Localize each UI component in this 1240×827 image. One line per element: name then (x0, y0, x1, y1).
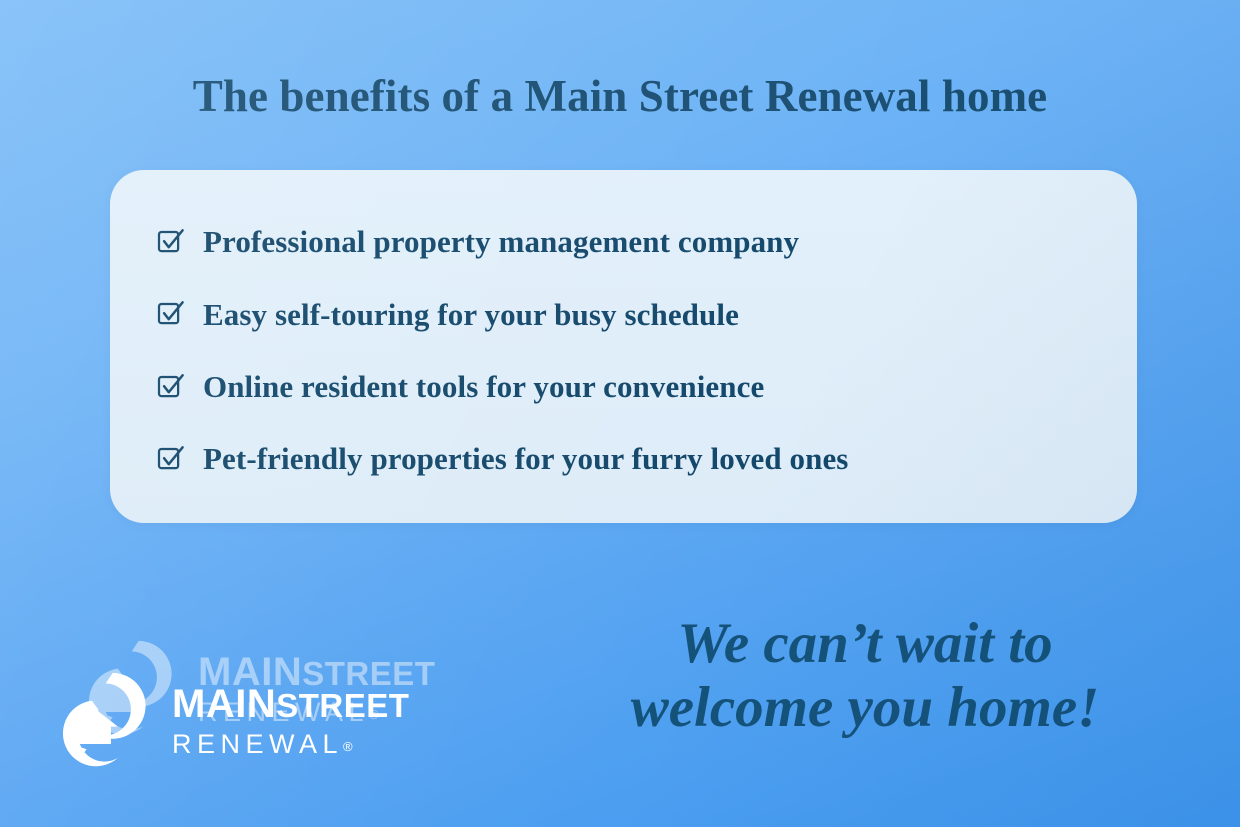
checkbox-checked-icon (156, 371, 186, 401)
checkbox-checked-icon (156, 226, 186, 256)
checkbox-checked-icon (156, 443, 186, 473)
brand-logo: MAINSTREET RENEWAL® MAINSTREET R (52, 634, 482, 779)
benefit-label: Easy self-touring for your busy schedule (203, 297, 739, 333)
benefit-label: Pet-friendly properties for your furry l… (203, 441, 848, 477)
mainstreet-renewal-emblem-icon (52, 666, 156, 775)
benefits-list: Professional property management company… (148, 206, 1111, 495)
benefits-card: Professional property management company… (110, 170, 1137, 523)
page-title: The benefits of a Main Street Renewal ho… (0, 72, 1240, 122)
tagline: We can’t wait to welcome you home! (560, 612, 1170, 741)
benefit-label: Online resident tools for your convenien… (203, 369, 764, 405)
promo-poster: The benefits of a Main Street Renewal ho… (0, 0, 1240, 827)
list-item: Easy self-touring for your busy schedule (148, 297, 1111, 333)
checkbox-checked-icon (156, 298, 186, 328)
benefit-label: Professional property management company (203, 224, 799, 260)
list-item: Pet-friendly properties for your furry l… (148, 441, 1111, 477)
brand-wordmark: MAINSTREET RENEWAL® (172, 684, 409, 758)
tagline-line-1: We can’t wait to (560, 612, 1170, 676)
list-item: Professional property management company (148, 224, 1111, 260)
wordmark-main: MAIN (172, 682, 276, 726)
wordmark-street: STREET (276, 687, 409, 724)
wordmark-renewal: RENEWAL® (172, 731, 353, 758)
registered-mark: ® (343, 739, 353, 754)
brand-logo-primary: MAINSTREET RENEWAL® (52, 666, 409, 775)
wordmark-mainstreet: MAINSTREET (172, 684, 409, 724)
tagline-line-2: welcome you home! (560, 676, 1170, 740)
list-item: Online resident tools for your convenien… (148, 369, 1111, 405)
wordmark-renewal-text: RENEWAL (172, 729, 343, 759)
